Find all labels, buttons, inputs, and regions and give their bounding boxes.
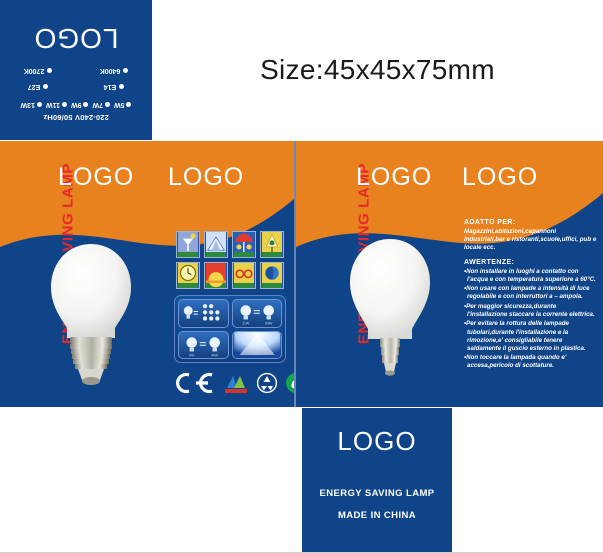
- suitable-for-body: Magazzini,abitazioni,capannoni industria…: [464, 228, 598, 253]
- parasol-patio-icon: [232, 231, 256, 258]
- floor-lamp-icon: [260, 231, 284, 258]
- bottom-origin-text: MADE IN CHINA: [302, 510, 452, 521]
- wattage-label: 5W: [114, 101, 125, 108]
- warning-item: Per evitare la rottura delle lampade tub…: [464, 320, 598, 352]
- bulb-equals-bulb-lumens: 9W40W: [178, 331, 229, 360]
- clock-long-life-icon: [176, 262, 200, 289]
- bulb-image-e14: [344, 233, 436, 385]
- checkbox-dot-icon[interactable]: [47, 68, 52, 73]
- wattage-option-13w[interactable]: 13W: [21, 101, 42, 108]
- color-temperature-checkbox-row: 6400K 2700K: [0, 67, 152, 74]
- wattage-label: 7W: [92, 101, 103, 108]
- size-caption-area: Size:45x45x75mm: [152, 0, 603, 140]
- wattage-label: 11W: [46, 101, 60, 108]
- voltage-label: 220-240V 50/60Hz: [0, 113, 152, 122]
- checkbox-dot-icon[interactable]: [43, 84, 48, 89]
- base-label: E27: [28, 83, 40, 90]
- bottom-face-panel: LOGO ENERGY SAVING LAMP MADE IN CHINA: [302, 408, 452, 553]
- triangle-brand-logo-icon: [223, 372, 249, 394]
- checkbox-dot-icon[interactable]: [62, 102, 67, 107]
- bottom-blank-flap: [452, 408, 603, 553]
- glasses-eye-comfort-icon: [232, 262, 256, 289]
- wattage-checkbox-row: 5W 7W 9W 11W 13W: [0, 101, 152, 108]
- warnings-heading: AWERTENZE:: [464, 259, 598, 266]
- kelvin-option-6400k[interactable]: 6400K: [76, 67, 152, 74]
- bottom-product-name: ENERGY SAVING LAMP: [302, 488, 452, 499]
- wattage-label: 9W: [71, 101, 82, 108]
- front-logo-1: LOGO: [58, 163, 134, 192]
- svg-text:9W: 9W: [189, 353, 195, 357]
- application-icons-grid: [176, 231, 284, 289]
- warning-item: Non usare con lampade a intensità di luc…: [464, 285, 598, 301]
- comparison-diagram-box: 11W60W 9W40W: [174, 295, 286, 363]
- svg-text:60W: 60W: [265, 322, 273, 326]
- packaging-dieline: 220-240V 50/60Hz 5W 7W 9W 11W: [0, 0, 603, 553]
- suitable-for-heading: ADATTO PER:: [464, 219, 598, 226]
- italian-info-block: ADATTO PER: Magazzini,abitazioni,capanno…: [464, 219, 598, 372]
- bulb-equals-bulb-wattage: 11W60W: [232, 299, 283, 328]
- front-face-panel: ENERGY SAVING LAMP LOGO LOGO: [0, 141, 294, 407]
- tent-camping-icon: [204, 231, 228, 258]
- kelvin-label: 2700K: [24, 67, 45, 74]
- svg-text:11W: 11W: [242, 322, 250, 326]
- checkbox-dot-icon[interactable]: [105, 102, 110, 107]
- certification-marks-row: [172, 369, 290, 397]
- spec-flap-rotated-content: 220-240V 50/60Hz 5W 7W 9W 11W: [0, 0, 152, 140]
- size-text: Size:45x45x75mm: [260, 54, 495, 86]
- back-face-panel: ENERGY SAVING LAMP LOGO LOGO: [296, 141, 603, 407]
- svg-text:40W: 40W: [211, 353, 219, 357]
- wattage-option-5w[interactable]: 5W: [114, 101, 132, 108]
- green-eco-mark-icon: [285, 372, 294, 394]
- base-option-e27[interactable]: E27: [0, 83, 76, 90]
- checkbox-dot-icon[interactable]: [83, 102, 88, 107]
- base-option-e14[interactable]: E14: [76, 83, 152, 90]
- warning-item: Per maggior sicurezza,durante l'installa…: [464, 303, 598, 319]
- cocktail-bar-icon: [176, 231, 200, 258]
- wattage-label: 13W: [21, 101, 35, 108]
- ce-mark-icon: [172, 372, 216, 394]
- checkbox-dot-icon[interactable]: [123, 68, 128, 73]
- spec-flap-logo: LOGO: [0, 22, 152, 54]
- warnings-list: Non installare in luoghi a contatto con …: [464, 268, 598, 371]
- bottom-logo: LOGO: [302, 426, 452, 457]
- checkbox-dot-icon[interactable]: [119, 84, 124, 89]
- kelvin-label: 6400K: [100, 67, 121, 74]
- back-logo-2: LOGO: [462, 163, 538, 192]
- kelvin-option-2700k[interactable]: 2700K: [0, 67, 76, 74]
- warning-item: Non installare in luoghi a contatto con …: [464, 268, 598, 284]
- bulb-image-e27: [45, 238, 137, 390]
- spec-flap-panel: 220-240V 50/60Hz 5W 7W 9W 11W: [0, 0, 152, 140]
- globe-eco-icon: [260, 262, 284, 289]
- sunrise-warm-light-icon: [204, 262, 228, 289]
- wattage-option-7w[interactable]: 7W: [92, 101, 110, 108]
- warning-item: Non toccare la lampada quando e' accesa,…: [464, 354, 598, 370]
- wattage-option-11w[interactable]: 11W: [46, 101, 67, 108]
- base-label: E14: [104, 83, 116, 90]
- recycling-mark-icon: [256, 372, 278, 394]
- bright-light-spread: [232, 331, 283, 360]
- main-faces-row: ENERGY SAVING LAMP LOGO LOGO: [0, 141, 603, 407]
- front-logo-2: LOGO: [168, 163, 244, 192]
- base-type-checkbox-row: E14 E27: [0, 83, 152, 90]
- wattage-option-9w[interactable]: 9W: [71, 101, 89, 108]
- one-bulb-equals-many-bulbs: [178, 299, 229, 328]
- checkbox-dot-icon[interactable]: [126, 102, 131, 107]
- checkbox-dot-icon[interactable]: [37, 102, 42, 107]
- back-logo-1: LOGO: [356, 163, 432, 192]
